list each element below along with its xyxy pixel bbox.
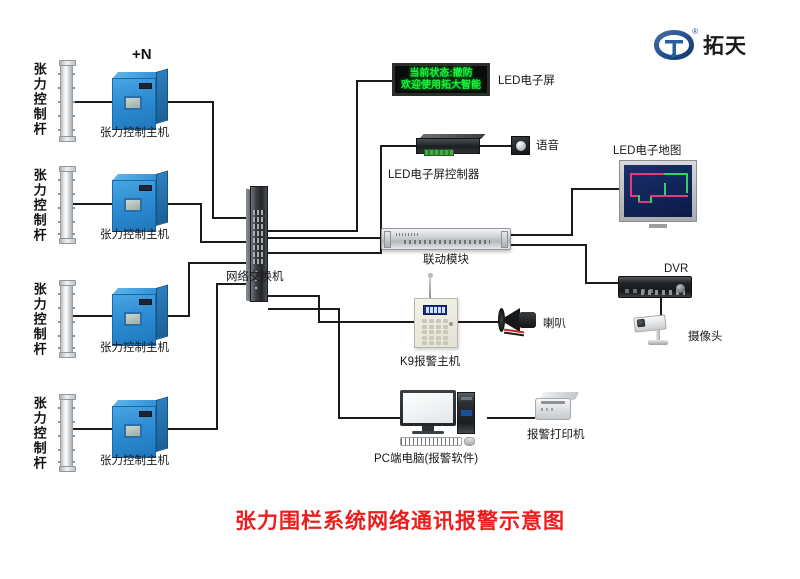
- wire-row3-pole-host: [72, 315, 112, 317]
- wire-switch-pc-run: [268, 308, 340, 310]
- camera-label: 摄像头: [688, 330, 723, 344]
- wire-to-k9: [318, 321, 414, 323]
- logo-mark-icon: ®: [652, 28, 696, 62]
- dvr-label: DVR: [664, 262, 688, 276]
- pc-workstation: [400, 390, 486, 448]
- wire-linkage-map-run: [511, 234, 573, 236]
- network-switch-label: 网络交换机: [226, 270, 284, 284]
- host-label-4: 张力控制主机: [100, 454, 169, 468]
- wire-pc-printer: [487, 417, 535, 419]
- wire-to-led-map: [571, 188, 619, 190]
- diagram-title: 张力围栏系统网络通讯报警示意图: [0, 505, 800, 535]
- wire-pc-drop: [338, 308, 340, 419]
- linkage-module-label: 联动模块: [423, 253, 469, 267]
- alarm-printer: [535, 392, 575, 422]
- tension-host-2: [112, 174, 168, 232]
- wire-row3-host-out: [168, 315, 190, 317]
- pc-label: PC端电脑(报警软件): [374, 452, 478, 466]
- wire-row4-pole-host: [72, 428, 112, 430]
- led-map-label: LED电子地图: [613, 144, 681, 158]
- brand-logo: ® 拓天: [652, 28, 747, 62]
- linkage-module: [381, 228, 511, 250]
- voice-module: [511, 136, 530, 155]
- wire-row1-pole-host: [72, 101, 112, 103]
- dvr-device: [618, 276, 692, 298]
- wire-row1-drop: [212, 101, 214, 219]
- wire-row2-to-switch: [200, 241, 248, 243]
- led-display-line2: 欢迎使用拓大智能: [401, 80, 481, 92]
- printer-label: 报警打印机: [527, 428, 585, 442]
- pole-label-1: 张力控制杆: [32, 62, 46, 137]
- wire-to-pc: [338, 417, 400, 419]
- wire-led-rise: [356, 80, 358, 232]
- led-display-label: LED电子屏: [498, 74, 555, 88]
- host-label-1: 张力控制主机: [100, 126, 169, 140]
- plus-n-annotation: +N: [132, 46, 152, 63]
- tension-host-1: [112, 72, 168, 130]
- tension-pole-2: [60, 168, 73, 242]
- host-label-2: 张力控制主机: [100, 228, 169, 242]
- wire-ledctrl-voice: [479, 145, 511, 147]
- wire-row2-host-out: [168, 203, 202, 205]
- wire-switch-led-run: [268, 230, 358, 232]
- host-label-3: 张力控制主机: [100, 341, 169, 355]
- network-switch: [246, 186, 272, 302]
- wire-to-led-display: [356, 80, 392, 82]
- pole-label-4: 张力控制杆: [32, 396, 46, 471]
- wire-to-dvr: [585, 282, 618, 284]
- k9-alarm-host: [414, 298, 458, 348]
- tension-pole-3: [60, 282, 73, 356]
- led-controller-label: LED电子屏控制器: [388, 168, 479, 182]
- wire-switch-linkage: [268, 237, 380, 239]
- registered-mark: ®: [692, 27, 698, 36]
- tension-pole-1: [60, 62, 73, 140]
- led-controller: [416, 134, 480, 156]
- led-display: 当前状态:撤防 欢迎使用拓大智能: [392, 63, 490, 96]
- wire-row4-rise: [216, 283, 218, 430]
- diagram-canvas: ® 拓天: [0, 0, 800, 579]
- wire-linkage-dvr-run: [511, 244, 587, 246]
- brand-name: 拓天: [703, 30, 747, 60]
- wire-row1-to-switch: [212, 217, 248, 219]
- wire-map-rise: [571, 188, 573, 236]
- led-display-line1: 当前状态:撤防: [409, 68, 472, 80]
- pole-label-2: 张力控制杆: [32, 168, 46, 243]
- wire-row2-drop: [200, 203, 202, 243]
- led-map-monitor: [619, 160, 697, 222]
- wire-row1-host-out: [168, 101, 214, 103]
- camera-device: [634, 314, 680, 348]
- tension-pole-4: [60, 396, 73, 470]
- wire-row3-rise: [188, 262, 190, 317]
- horn-label: 喇叭: [543, 317, 566, 331]
- k9-label: K9报警主机: [400, 355, 460, 369]
- tension-host-3: [112, 288, 168, 346]
- antenna-icon: [429, 276, 431, 298]
- tension-host-4: [112, 400, 168, 458]
- wire-row4-host-out: [168, 428, 218, 430]
- wire-to-ledctrl: [380, 145, 416, 147]
- voice-label: 语音: [536, 139, 559, 153]
- wire-k9-horn: [458, 321, 500, 323]
- wire-row2-pole-host: [72, 203, 112, 205]
- pole-label-3: 张力控制杆: [32, 282, 46, 357]
- led-map-screen: [624, 165, 692, 217]
- wire-dvr-drop: [585, 244, 587, 284]
- wire-row3-to-switch: [188, 262, 248, 264]
- wire-switch-k9-run: [268, 295, 320, 297]
- wire-switch-ledctrl-run: [268, 252, 382, 254]
- horn-speaker: [500, 305, 542, 335]
